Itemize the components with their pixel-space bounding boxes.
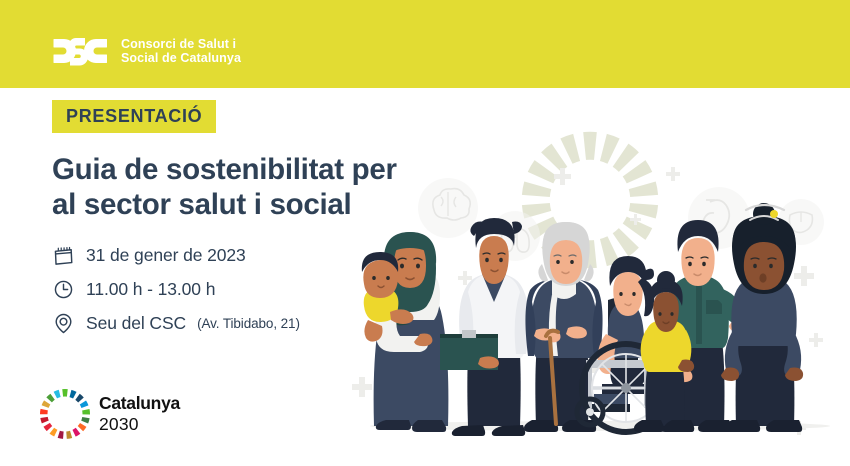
illustration-people-group	[350, 88, 850, 466]
catalunya-2030-text: Catalunya 2030	[99, 395, 180, 433]
presentation-badge: PRESENTACIÓ	[52, 100, 216, 133]
catalunya-2030-line1: Catalunya	[99, 395, 180, 413]
location-pin-icon	[52, 312, 75, 335]
sdg-color-wheel-icon	[40, 389, 90, 439]
woman-with-afro-hair	[721, 203, 803, 432]
event-time-text: 11.00 h - 13.00 h	[86, 279, 215, 300]
brand-name-line2: Social de Catalunya	[121, 51, 241, 65]
event-location-address: (Av. Tibidabo, 21)	[197, 313, 300, 334]
brand-lockup[interactable]: Consorci de Salut i Social de Catalunya	[52, 36, 241, 66]
brain-icon	[418, 178, 478, 238]
brand-name-line1: Consorci de Salut i	[121, 37, 236, 51]
calendar-icon	[52, 244, 75, 267]
header-band: Consorci de Salut i Social de Catalunya	[0, 0, 850, 88]
event-banner: Consorci de Salut i Social de Catalunya …	[0, 0, 850, 466]
brand-name: Consorci de Salut i Social de Catalunya	[121, 37, 241, 66]
catalunya-2030-logo[interactable]: Catalunya 2030	[40, 389, 180, 439]
clock-icon	[52, 278, 75, 301]
event-title: Guia de sostenibilitat per al sector sal…	[52, 152, 397, 222]
event-location-text: Seu del CSC	[86, 313, 186, 334]
csc-monogram-icon	[52, 36, 108, 66]
catalunya-2030-line2: 2030	[99, 416, 180, 434]
event-date-text: 31 de gener de 2023	[86, 245, 246, 266]
